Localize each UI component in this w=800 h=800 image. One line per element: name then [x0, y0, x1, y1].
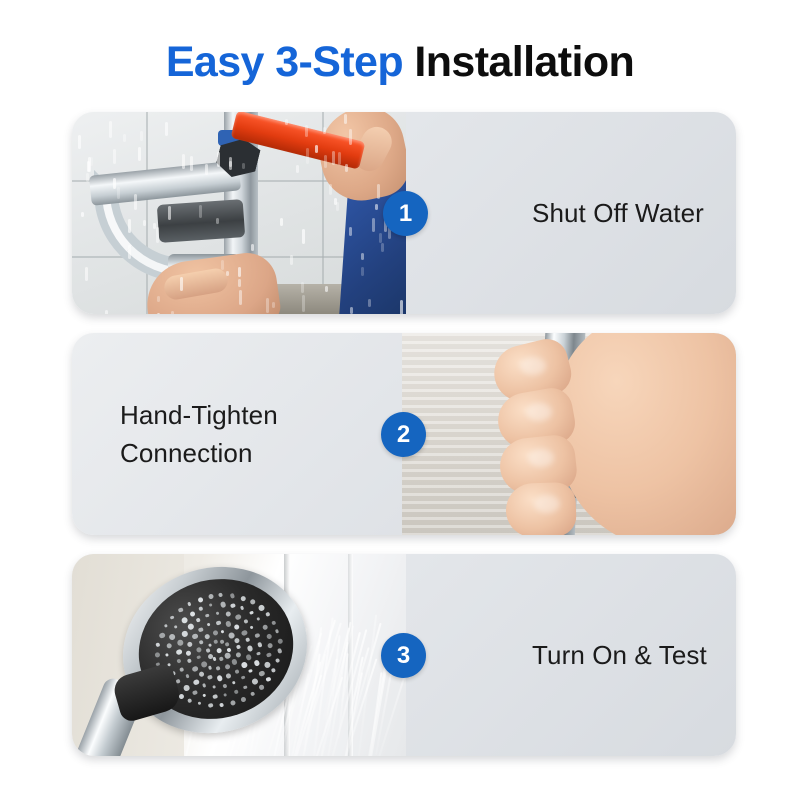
step-3-image [72, 554, 406, 756]
step-1-label-wrap: Shut Off Water [470, 112, 718, 314]
step-card-3[interactable]: 3 Turn On & Test [72, 554, 736, 756]
step-card-2[interactable]: Hand-Tighten Connection 2 [72, 333, 736, 535]
knuckle-highlight [526, 403, 552, 421]
knuckle-highlight [520, 357, 546, 375]
page-title-plain: Installation [403, 38, 634, 86]
step-badge-1: 1 [383, 191, 428, 236]
knuckle-highlight [528, 449, 554, 467]
page-title: Easy 3-Step Installation [0, 34, 800, 90]
step-2-image [402, 333, 736, 535]
step-badge-2: 2 [381, 412, 426, 457]
step-2-label-line2: Connection [120, 434, 278, 472]
step-3-label: Turn On & Test [532, 636, 707, 674]
step-card-1[interactable]: 1 Shut Off Water [72, 112, 736, 314]
step-badge-3: 3 [381, 633, 426, 678]
step-1-label: Shut Off Water [532, 194, 704, 232]
step-2-label-line1: Hand-Tighten [120, 396, 278, 434]
water-droplets [72, 112, 406, 314]
infographic-page: Easy 3-Step Installation [0, 0, 800, 800]
steps-list: 1 Shut Off Water Hand-Tighten Connection… [72, 112, 736, 775]
step-3-label-wrap: Turn On & Test [470, 554, 718, 756]
knuckle-highlight [534, 495, 560, 513]
page-title-accent: Easy 3-Step [166, 38, 403, 86]
step-1-image [72, 112, 406, 314]
